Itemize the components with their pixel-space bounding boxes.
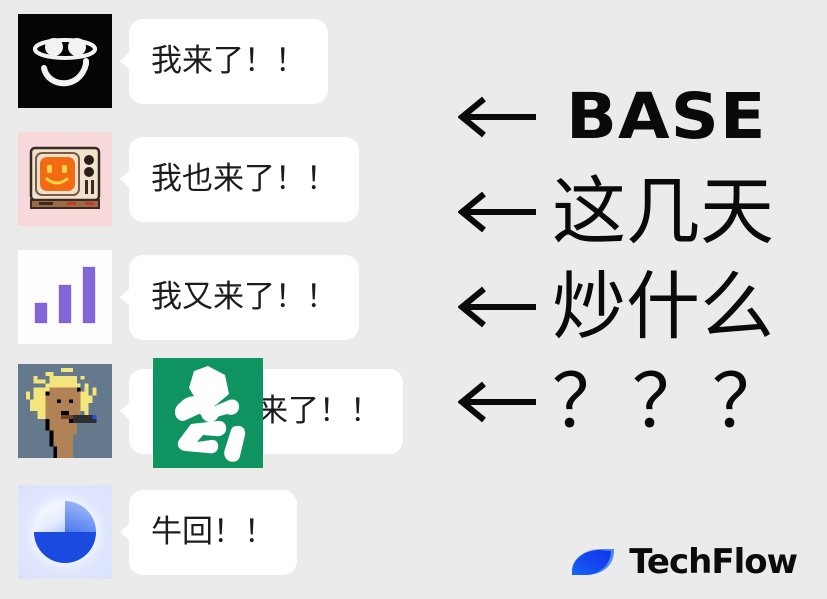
annotation-row-questions: ？？？ [458,365,818,439]
techflow-leaf-logo-icon [570,547,616,577]
chat-message-list: 我来了！！ [0,0,440,599]
chat-message-row: 我又来了！！ [18,250,359,344]
sphere-graphic [34,501,96,563]
brand-name: TechFlow [629,545,797,579]
saturn-smiley-icon [18,14,112,108]
annotation-row-days: 这几天 [458,175,818,249]
bar-chart-bar-2 [58,284,72,324]
chat-bubble-text: 我也来了！！ [151,164,337,195]
bar-chart-bar-3 [82,266,96,324]
chat-bubble[interactable]: 牛回！！ [129,490,297,575]
blue-sphere-logo-avatar[interactable] [18,485,112,579]
sphere-wedge [65,501,96,532]
chat-bubble-text: 我来了！！ [151,46,306,77]
screenshot-canvas: 我来了！！ [0,0,827,599]
bar-chart-bar-1 [34,302,48,324]
left-arrow-icon [458,189,538,235]
chat-bubble-text: 来了！！ [257,396,381,427]
chat-bubble-text: 我又来了！！ [151,282,337,313]
left-arrow-icon [458,284,538,330]
person-pictogram-icon [153,358,263,468]
pixel-punk-icon [18,364,112,458]
pink-retro-tv-avatar[interactable] [18,132,112,226]
left-arrow-icon [458,379,538,425]
green-person-sticker[interactable] [153,358,263,468]
chat-bubble[interactable]: 我又来了！！ [129,255,359,340]
retro-tv-icon [29,146,101,212]
pixel-punk-avatar[interactable] [18,364,112,458]
purple-bar-chart-avatar[interactable] [18,250,112,344]
chat-message-row: 我也来了！！ [18,132,359,226]
chat-bubble-text: 牛回！！ [151,517,275,548]
annotation-label: 这几天 [552,175,774,249]
annotation-row-base: BASE [458,85,818,148]
annotation-row-what: 炒什么 [458,270,818,344]
chat-bubble[interactable]: 我来了！！ [129,19,328,104]
left-arrow-icon [458,94,538,140]
brand-footer: TechFlow [570,545,797,579]
annotation-label: ？？？ [552,365,792,439]
annotation-label: 炒什么 [552,270,774,344]
annotation-label: BASE [566,85,767,148]
chat-message-row: 我来了！！ [18,14,328,108]
annotation-column: BASE 这几天 炒什么 [440,0,827,599]
black-saturn-smiley-avatar[interactable] [18,14,112,108]
chat-bubble[interactable]: 我也来了！！ [129,137,359,222]
chat-message-row: 牛回！！ [18,485,297,579]
sphere-lower-half [34,532,96,563]
